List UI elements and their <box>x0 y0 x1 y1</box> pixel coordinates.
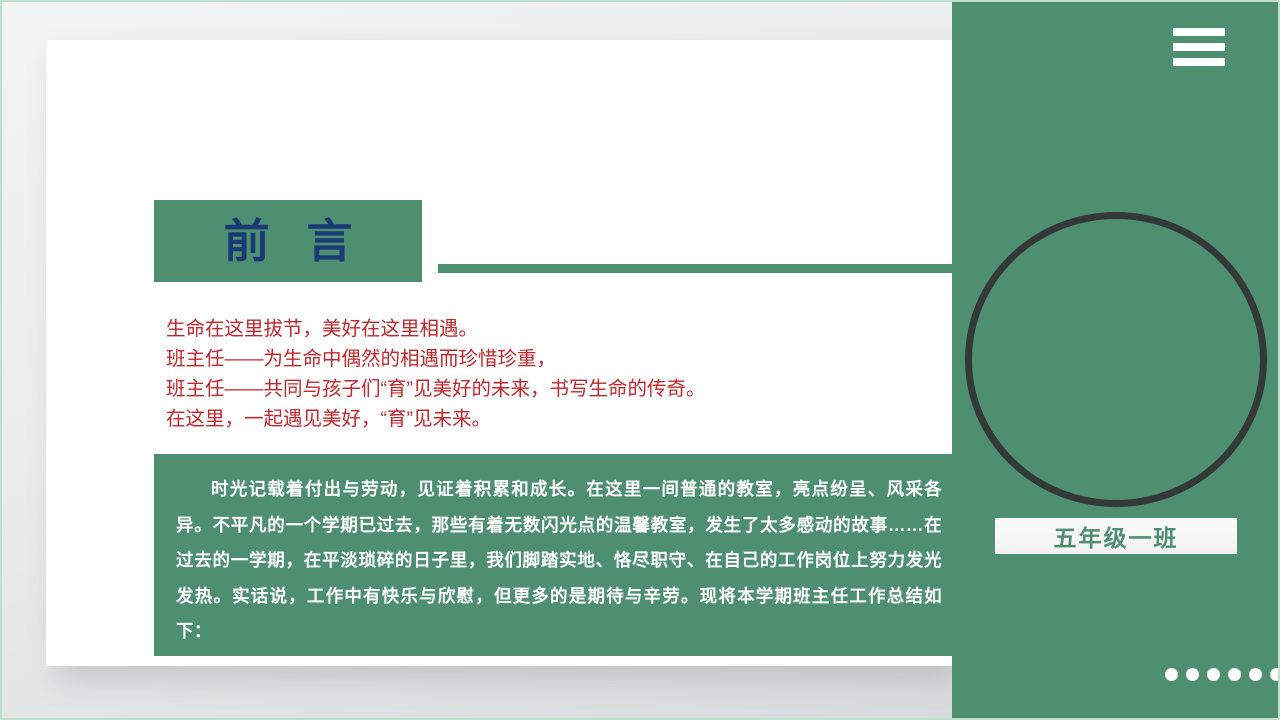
pagination-dot[interactable] <box>1186 668 1199 681</box>
body-paragraph: 时光记载着付出与劳动，见证着积累和成长。在这里一间普通的教室，亮点纷呈、风采各异… <box>176 472 942 650</box>
class-badge-label: 五年级一班 <box>1054 519 1179 553</box>
lead-line: 在这里，一起遇见美好，“育”见未来。 <box>166 404 966 434</box>
hamburger-bar-1 <box>1173 28 1225 36</box>
white-content-card: 前 言 生命在这里拔节，美好在这里相遇。 班主任——为生命中偶然的相遇而珍惜珍重… <box>46 40 952 666</box>
lead-line: 班主任——共同与孩子们“育”见美好的未来，书写生命的传奇。 <box>166 374 966 404</box>
pagination-dot[interactable] <box>1270 668 1280 681</box>
class-badge: 五年级一班 <box>995 518 1237 554</box>
pagination-dot[interactable] <box>1228 668 1241 681</box>
pagination-dots[interactable] <box>1165 668 1280 681</box>
hamburger-bar-3 <box>1173 58 1225 66</box>
body-text-box: 时光记载着付出与劳动，见证着积累和成长。在这里一间普通的教室，亮点纷呈、风采各异… <box>154 454 964 656</box>
page-title: 前 言 <box>212 218 365 264</box>
title-divider-rule <box>438 264 996 273</box>
slide-root: 前 言 生命在这里拔节，美好在这里相遇。 班主任——为生命中偶然的相遇而珍惜珍重… <box>0 0 1280 720</box>
circle-outline-icon <box>965 212 1267 507</box>
pagination-dot[interactable] <box>1207 668 1220 681</box>
lead-line: 生命在这里拔节，美好在这里相遇。 <box>166 314 966 344</box>
right-green-panel: 五年级一班 <box>952 0 1280 720</box>
hamburger-menu-icon[interactable] <box>1173 28 1225 66</box>
pagination-dot[interactable] <box>1165 668 1178 681</box>
lead-text-block: 生命在这里拔节，美好在这里相遇。 班主任——为生命中偶然的相遇而珍惜珍重， 班主… <box>166 314 966 434</box>
hamburger-bar-2 <box>1173 43 1225 51</box>
pagination-dot[interactable] <box>1249 668 1262 681</box>
lead-line: 班主任——为生命中偶然的相遇而珍惜珍重， <box>166 344 966 374</box>
section-title-box: 前 言 <box>154 200 422 282</box>
